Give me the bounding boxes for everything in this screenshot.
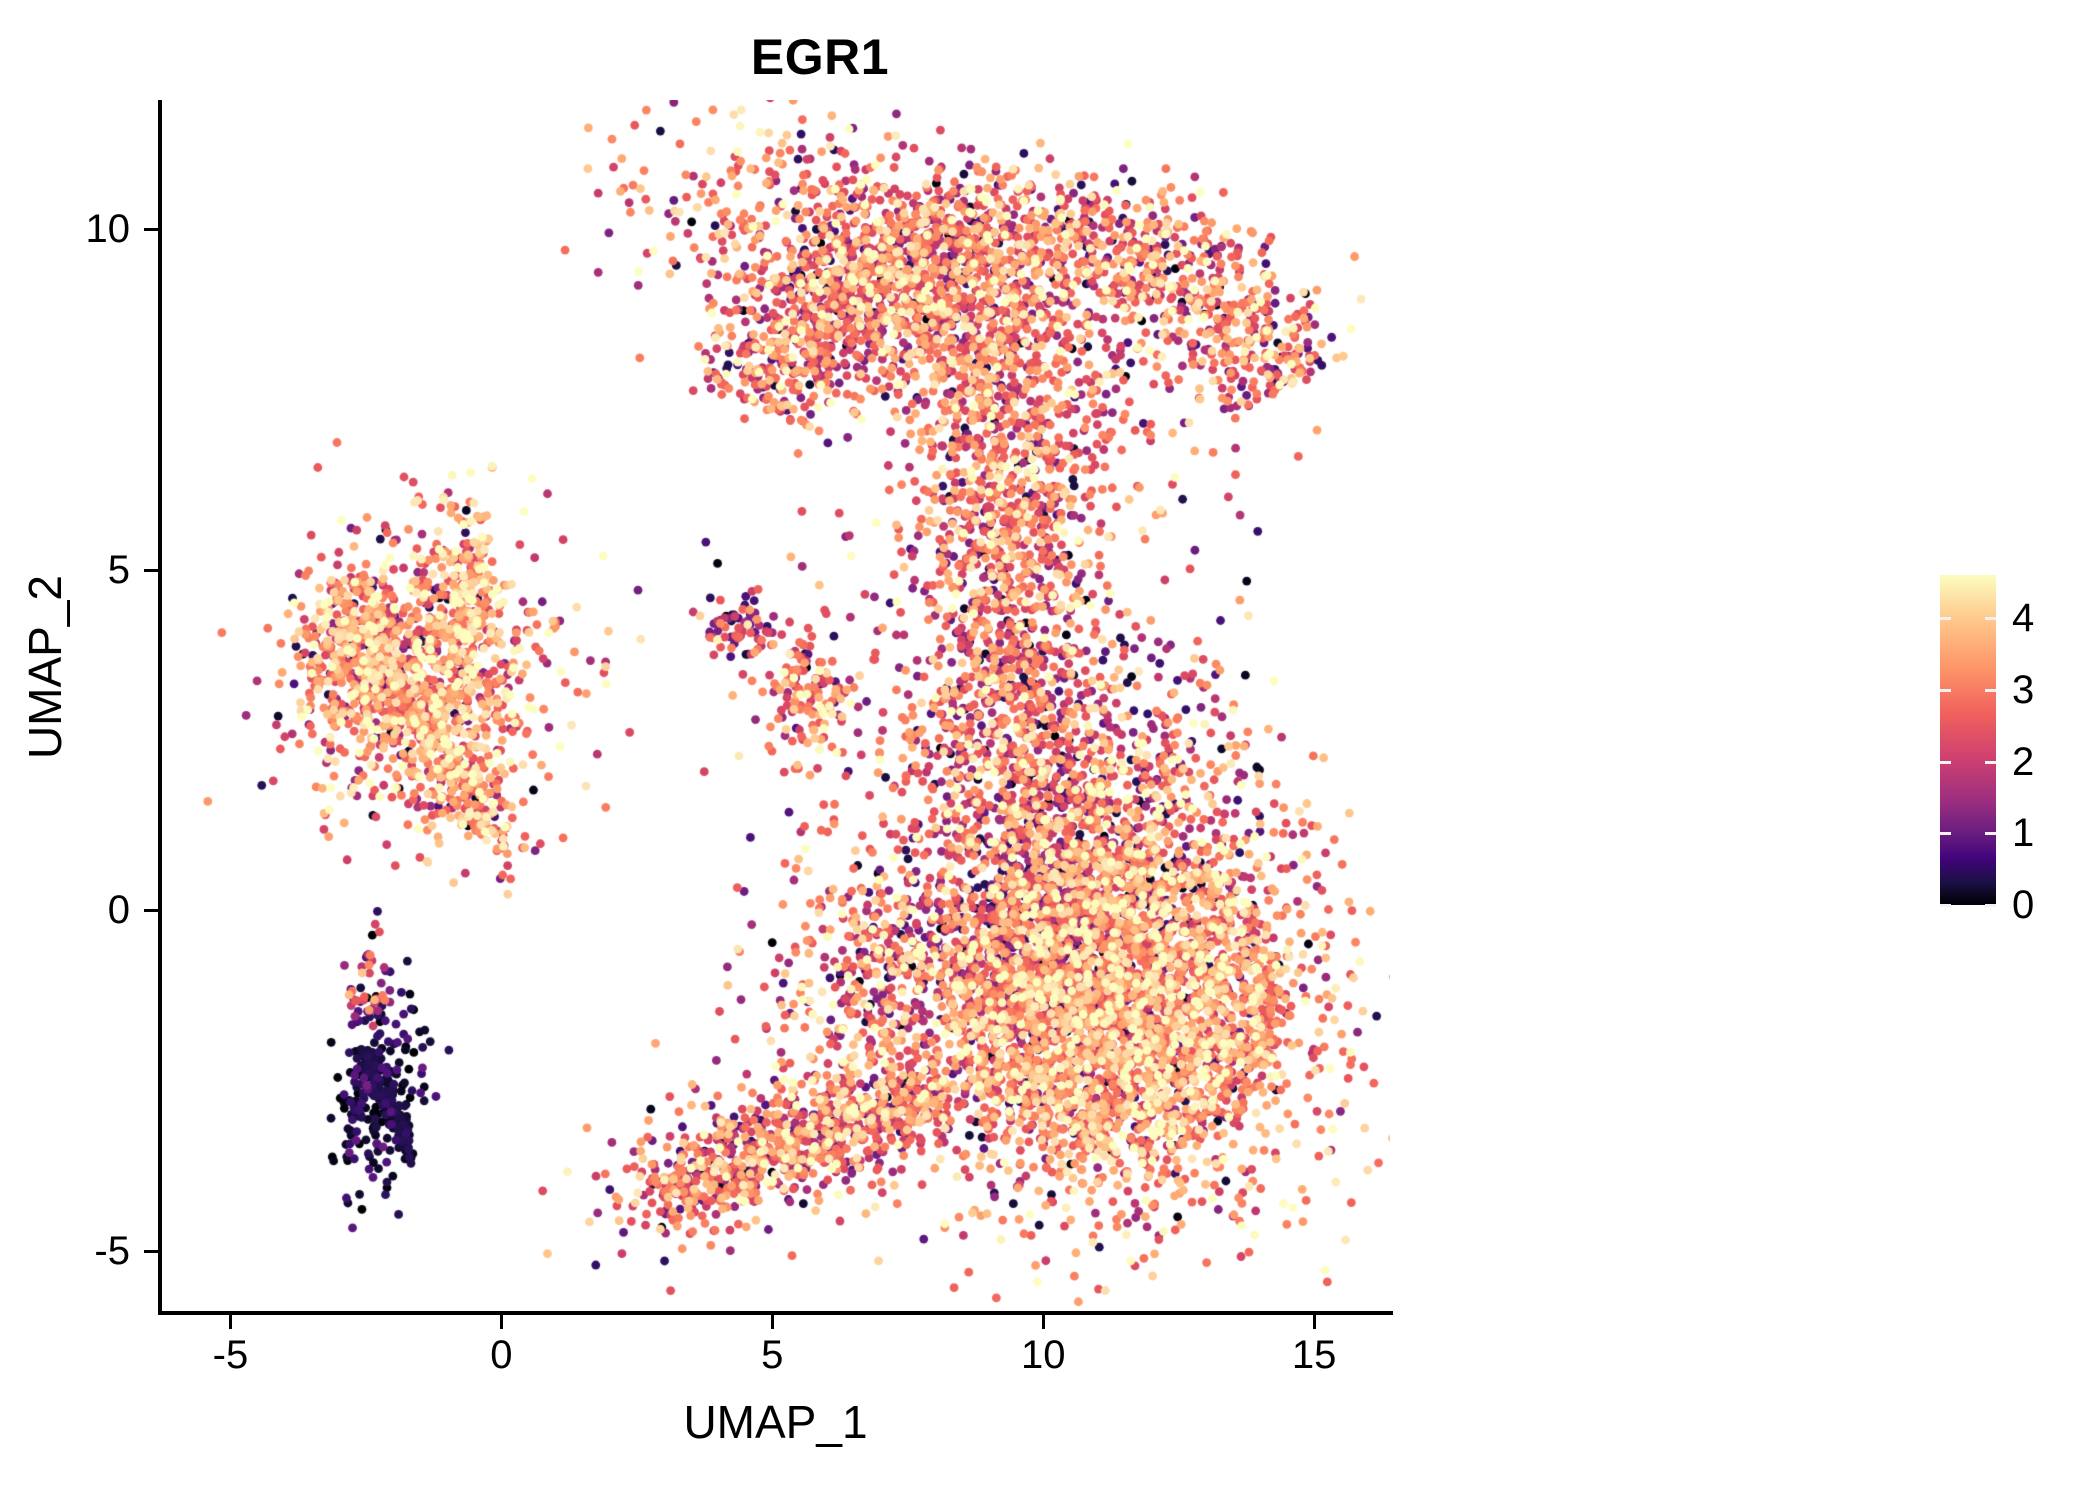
colorbar-tick-mark	[1985, 761, 1996, 764]
x-axis-spine	[158, 1311, 1393, 1315]
colorbar-gradient	[1940, 575, 1996, 905]
colorbar-tick-label: 3	[2012, 670, 2034, 710]
colorbar-tick-mark	[1940, 689, 1951, 692]
x-axis-title: UMAP_1	[158, 1395, 1393, 1449]
page-title: EGR1	[0, 28, 1640, 86]
plot-panel	[160, 100, 1390, 1312]
colorbar-tick-mark	[1985, 689, 1996, 692]
x-tick-mark	[771, 1315, 774, 1329]
colorbar-tick-mark	[1940, 617, 1951, 620]
colorbar-tick-mark	[1940, 761, 1951, 764]
y-axis-spine	[158, 100, 162, 1315]
x-tick-label: -5	[150, 1335, 310, 1375]
x-tick-label: 15	[1234, 1335, 1394, 1375]
colorbar-tick-label: 1	[2012, 813, 2034, 853]
x-tick-label: 5	[692, 1335, 852, 1375]
y-tick-mark	[144, 909, 158, 912]
x-tick-mark	[229, 1315, 232, 1329]
scatter-canvas	[160, 100, 1390, 1312]
x-tick-mark	[500, 1315, 503, 1329]
colorbar-tick-mark	[1940, 904, 1951, 907]
x-tick-label: 10	[963, 1335, 1123, 1375]
y-tick-mark	[144, 228, 158, 231]
y-tick-label: 10	[10, 209, 130, 249]
x-tick-label: 0	[421, 1335, 581, 1375]
y-tick-mark	[144, 569, 158, 572]
colorbar-tick-label: 2	[2012, 742, 2034, 782]
colorbar-legend: 43210	[1940, 575, 1996, 905]
y-axis-title: UMAP_2	[18, 367, 72, 967]
colorbar-tick-label: 0	[2012, 885, 2034, 925]
x-tick-mark	[1313, 1315, 1316, 1329]
colorbar-tick-mark	[1985, 617, 1996, 620]
x-tick-mark	[1042, 1315, 1045, 1329]
y-tick-mark	[144, 1250, 158, 1253]
umap-feature-plot: EGR1 -50510 -5051015 UMAP_1 UMAP_2 43210	[0, 0, 2100, 1500]
y-tick-label: -5	[10, 1231, 130, 1271]
colorbar-tick-label: 4	[2012, 598, 2034, 638]
colorbar-tick-mark	[1940, 832, 1951, 835]
colorbar-tick-mark	[1985, 904, 1996, 907]
colorbar-tick-mark	[1985, 832, 1996, 835]
